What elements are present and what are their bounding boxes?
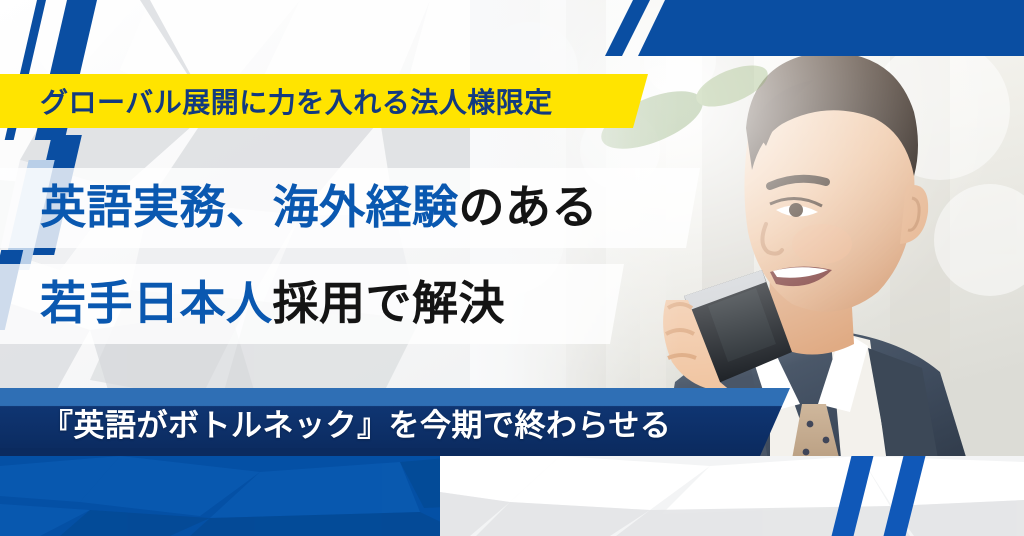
eyebrow-band: グローバル展開に力を入れる法人様限定: [0, 74, 660, 128]
headline-line-2: 若手日本人採用で解決: [40, 280, 505, 326]
eyebrow-text: グローバル展開に力を入れる法人様限定: [40, 81, 553, 121]
banner-canvas: グローバル展開に力を入れる法人様限定 英語実務、海外経験のある 若手日本人採用で…: [0, 0, 1024, 536]
subline-bar: 『英語がボトルネック』を今期で終わらせる: [0, 388, 790, 456]
headline-line-2-rest: 採用で解決: [273, 277, 506, 329]
bottom-right-decoration: [440, 456, 1024, 536]
headline-line-1-rest: のある: [459, 181, 599, 233]
headline-line-2-accent: 若手日本人: [40, 277, 273, 329]
headline-line-1: 英語実務、海外経験のある: [40, 184, 598, 230]
bottom-blue-band-texture: [0, 456, 470, 536]
headline-line-1-accent: 英語実務、海外経験: [40, 181, 459, 233]
subline-text: 『英語がボトルネック』を今期で終わらせる: [42, 400, 671, 445]
